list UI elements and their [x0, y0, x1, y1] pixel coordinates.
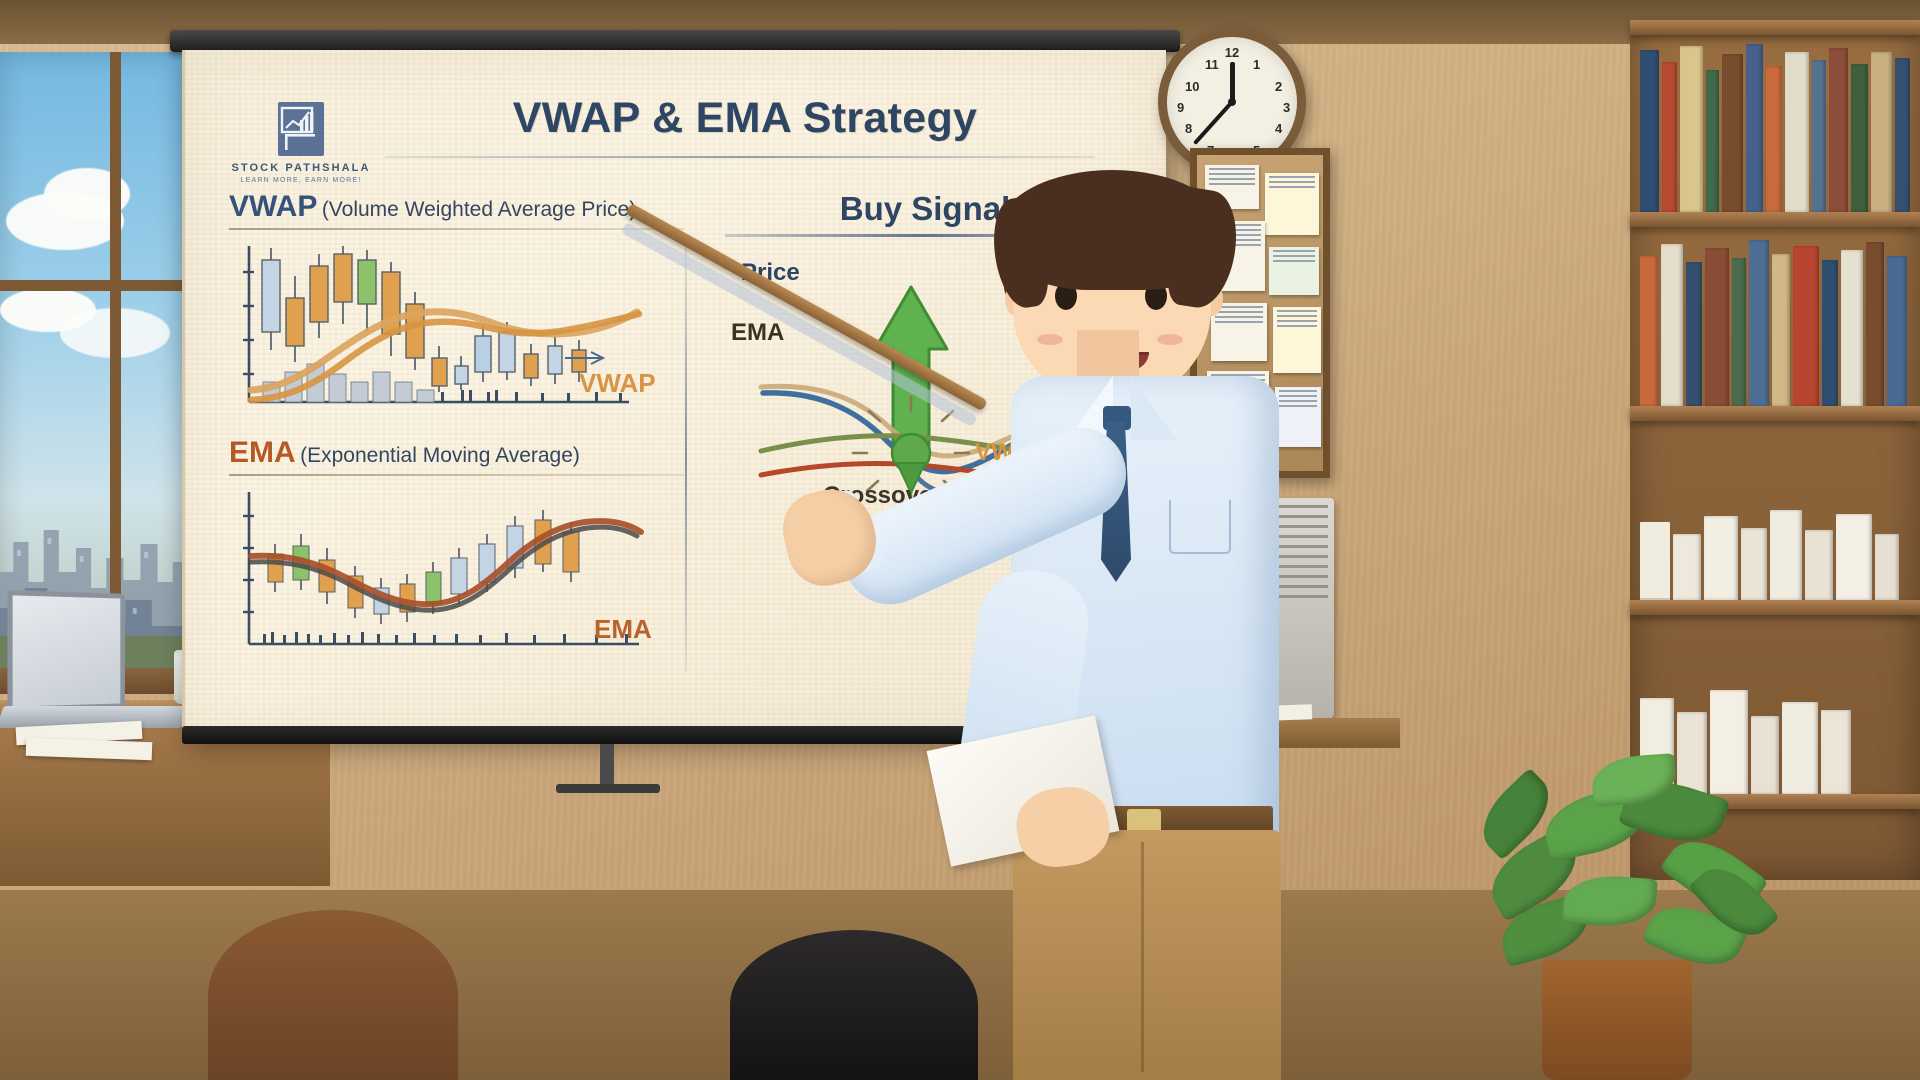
column-divider	[685, 242, 687, 672]
ema-rule	[229, 474, 684, 476]
ema-key: EMA	[229, 436, 296, 469]
vwap-rule	[229, 228, 684, 230]
slide-title: VWAP & EMA Strategy	[385, 94, 1105, 143]
brand-logo: STOCK PATHSHALA LEARN MORE, EARN MORE!	[231, 102, 371, 184]
presenter-trousers	[1013, 830, 1281, 1080]
clock-minute-hand	[1193, 101, 1233, 145]
brand-tagline: LEARN MORE, EARN MORE!	[231, 177, 371, 184]
student-front-left	[208, 910, 458, 1080]
ema-subtitle: (Exponential Moving Average)	[300, 444, 580, 467]
title-divider	[385, 156, 1095, 158]
left-column: VWAP (Volume Weighted Average Price)	[229, 190, 684, 668]
clock-number-11: 11	[1205, 57, 1219, 72]
chart-presentation-icon	[278, 102, 324, 156]
screen-stand	[600, 744, 614, 788]
vwap-curve-label: VWAP	[579, 368, 656, 399]
clock-number-3: 3	[1283, 100, 1290, 115]
clock-number-8: 8	[1185, 121, 1192, 136]
laptop-screen	[7, 590, 124, 712]
ema-heading: EMA (Exponential Moving Average)	[229, 436, 684, 476]
vwap-heading: VWAP (Volume Weighted Average Price)	[229, 190, 684, 230]
presenter	[955, 170, 1355, 1080]
potted-plant	[1480, 750, 1780, 1080]
ema-section: EMA (Exponential Moving Average)	[229, 436, 684, 668]
vwap-subtitle: (Volume Weighted Average Price)	[322, 198, 636, 221]
clock-number-4: 4	[1275, 121, 1282, 136]
classroom-scene: STOCK PATHSHALA LEARN MORE, EARN MORE! V…	[0, 0, 1920, 1080]
vwap-key: VWAP	[229, 190, 317, 223]
clock-center-pin	[1228, 98, 1236, 106]
clock-number-10: 10	[1185, 79, 1199, 94]
ema-curve-label: EMA	[594, 614, 652, 645]
brand-name: STOCK PATHSHALA	[231, 162, 371, 174]
vwap-section: VWAP (Volume Weighted Average Price)	[229, 190, 684, 420]
student-front-right	[730, 930, 978, 1080]
screen-foot	[556, 784, 660, 793]
ema-chart: EMA	[229, 486, 684, 668]
clock-number-12: 12	[1225, 45, 1239, 60]
screen-roller-bar	[170, 30, 1180, 52]
vwap-chart: VWAP	[229, 240, 684, 420]
clock-number-2: 2	[1275, 79, 1282, 94]
clock-number-1: 1	[1253, 57, 1260, 72]
clock-number-9: 9	[1177, 100, 1184, 115]
ema-label: EMA	[731, 319, 784, 347]
window	[0, 52, 196, 672]
clock-hour-hand	[1230, 62, 1235, 102]
